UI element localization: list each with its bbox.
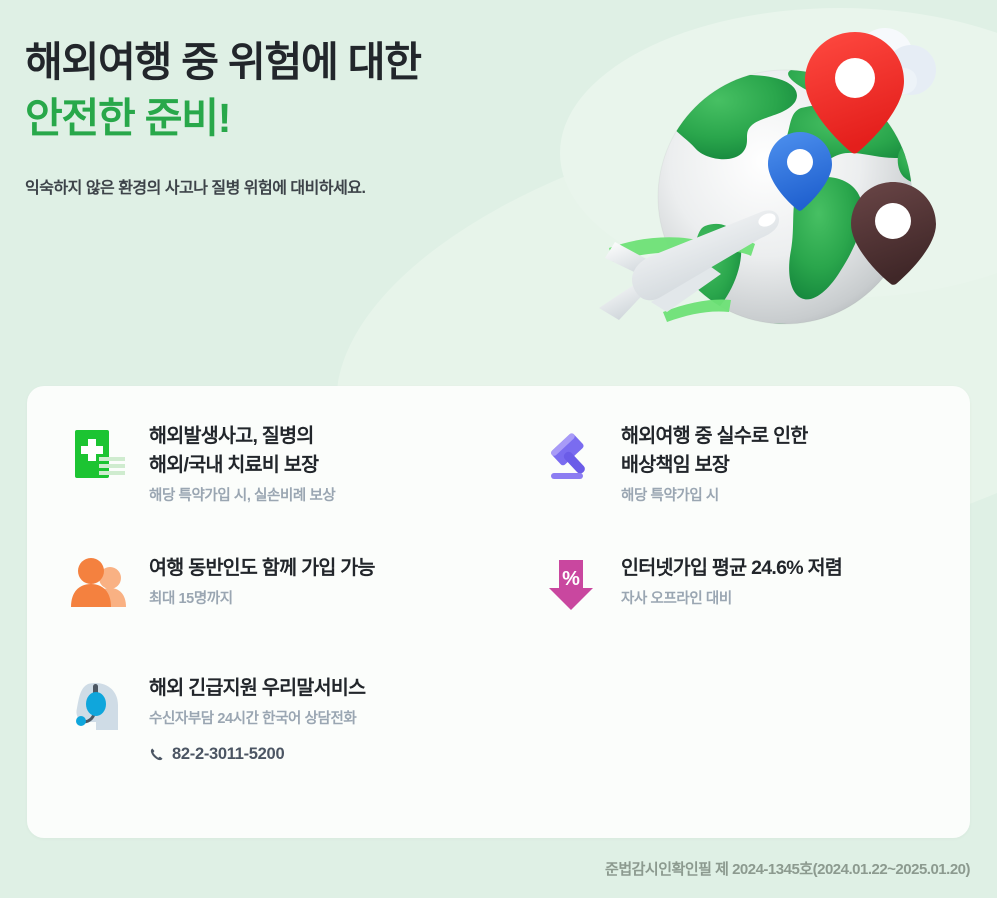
hero-section: 해외여행 중 위험에 대한 안전한 준비! 익숙하지 않은 환경의 사고나 질병… <box>25 34 645 201</box>
svg-text:%: % <box>562 568 580 590</box>
gavel-icon <box>535 422 607 484</box>
feature-subtitle: 수신자부담 24시간 한국어 상담전화 <box>149 703 365 730</box>
feature-item-discount: % 인터넷가입 평균 24.6% 저렴 자사 오프라인 대비 <box>535 554 842 612</box>
feature-text: 인터넷가입 평균 24.6% 저렴 자사 오프라인 대비 <box>607 554 842 610</box>
feature-subtitle: 해당 특약가입 시 <box>621 480 808 507</box>
feature-title-line2: 배상책임 보장 <box>621 451 808 480</box>
feature-title-line1: 인터넷가입 평균 24.6% 저렴 <box>621 554 842 583</box>
phone-handset-icon <box>149 747 164 762</box>
features-card: 해외발생사고, 질병의 해외/국내 치료비 보장 해당 특약가입 시, 실손비례… <box>27 386 970 838</box>
medical-document-icon <box>63 422 135 484</box>
compliance-footer: 준법감시인확인필 제 2024-1345호(2024.01.22~2025.01… <box>605 858 970 879</box>
support-phone-number: 82-2-3011-5200 <box>172 745 284 764</box>
feature-text: 해외 긴급지원 우리말서비스 수신자부담 24시간 한국어 상담전화 82-2-… <box>135 674 365 764</box>
feature-item-companions: 여행 동반인도 함께 가입 가능 최대 15명까지 <box>63 554 375 610</box>
globe-illustration <box>555 12 995 362</box>
feature-text: 해외여행 중 실수로 인한 배상책임 보장 해당 특약가입 시 <box>607 422 808 507</box>
support-phone-row[interactable]: 82-2-3011-5200 <box>149 730 365 764</box>
feature-title-line1: 해외여행 중 실수로 인한 <box>621 422 808 451</box>
promo-page: 해외여행 중 위험에 대한 안전한 준비! 익숙하지 않은 환경의 사고나 질병… <box>0 0 997 898</box>
hero-title-line1: 해외여행 중 위험에 대한 <box>25 34 645 90</box>
feature-text: 해외발생사고, 질병의 해외/국내 치료비 보장 해당 특약가입 시, 실손비례… <box>135 422 335 507</box>
feature-item-emergency-support: 해외 긴급지원 우리말서비스 수신자부담 24시간 한국어 상담전화 82-2-… <box>63 674 365 764</box>
feature-subtitle: 최대 15명까지 <box>149 583 375 610</box>
feature-title-line1: 여행 동반인도 함께 가입 가능 <box>149 554 375 583</box>
two-people-icon <box>63 554 135 608</box>
hero-subtitle: 익숙하지 않은 환경의 사고나 질병 위험에 대비하세요. <box>25 146 645 201</box>
hero-title-line2: 안전한 준비! <box>25 90 645 146</box>
feature-subtitle: 자사 오프라인 대비 <box>621 583 842 610</box>
feature-subtitle: 해당 특약가입 시, 실손비례 보상 <box>149 480 335 507</box>
headset-support-icon <box>63 674 135 736</box>
feature-title-line1: 해외발생사고, 질병의 <box>149 422 335 451</box>
feature-item-liability: 해외여행 중 실수로 인한 배상책임 보장 해당 특약가입 시 <box>535 422 808 507</box>
feature-item-medical: 해외발생사고, 질병의 해외/국내 치료비 보장 해당 특약가입 시, 실손비례… <box>63 422 335 507</box>
feature-title-line2: 해외/국내 치료비 보장 <box>149 451 335 480</box>
feature-text: 여행 동반인도 함께 가입 가능 최대 15명까지 <box>135 554 375 610</box>
percent-down-arrow-icon: % <box>535 554 607 612</box>
feature-title-line1: 해외 긴급지원 우리말서비스 <box>149 674 365 703</box>
